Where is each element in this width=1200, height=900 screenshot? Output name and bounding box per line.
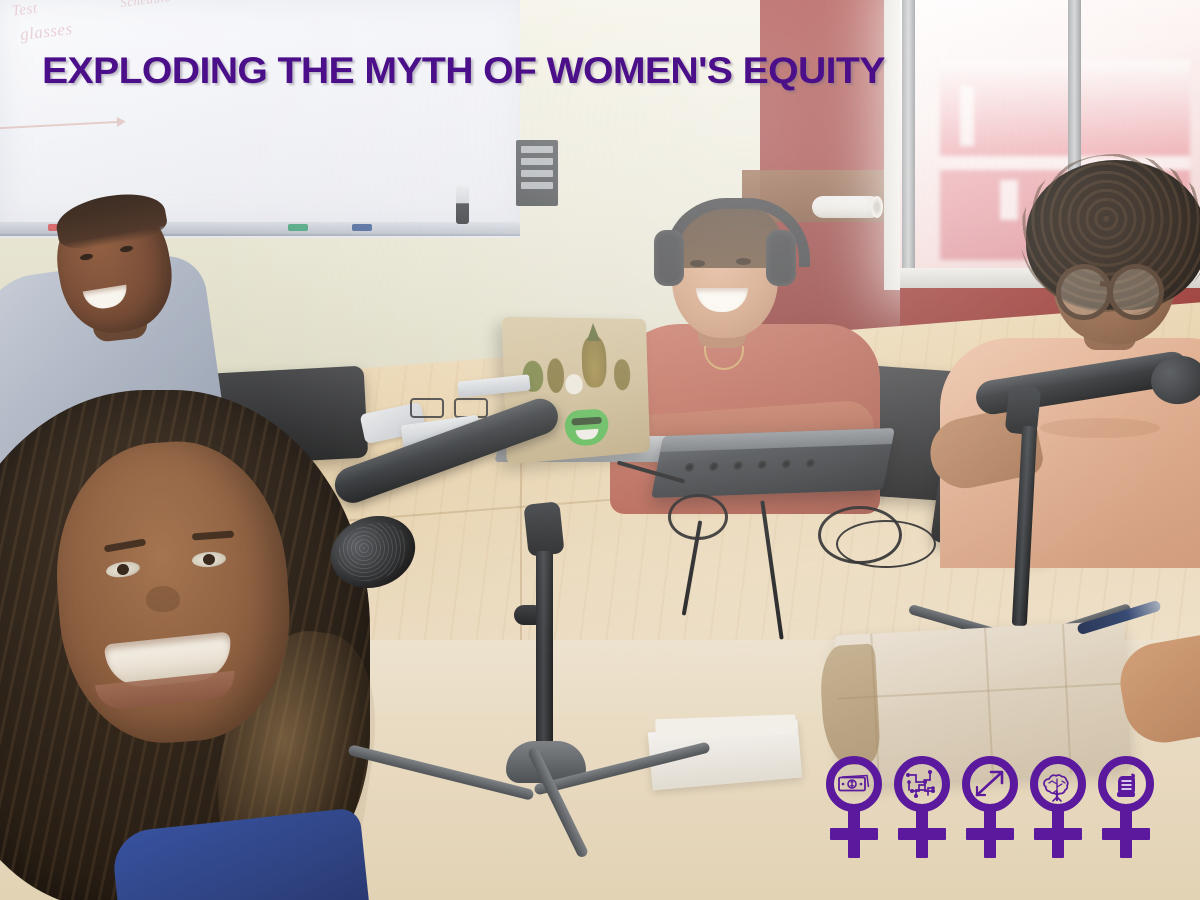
icon-row (820, 756, 1160, 860)
marker-blue (352, 224, 372, 231)
venus-badge-power[interactable] (1092, 756, 1160, 860)
sticker-pear (614, 359, 631, 390)
venus-badge-technology[interactable] (888, 756, 956, 860)
venus-badge-money[interactable] (820, 756, 888, 860)
microphone-foreground (330, 455, 630, 875)
brain-icon (1040, 766, 1076, 802)
venus-bar (898, 828, 946, 840)
microphone-grille (321, 504, 426, 599)
apple-logo-icon (565, 374, 583, 395)
whiteboard-note-1: Test (11, 1, 39, 21)
marker-green (288, 224, 308, 231)
whiteboard-note-2: glasses (19, 19, 74, 45)
window-frame-left (902, 0, 915, 290)
sticker-frog (564, 409, 609, 448)
venus-bar (966, 828, 1014, 840)
arrow-icon (972, 766, 1008, 802)
promo-image: Test glasses Schedule (0, 0, 1200, 900)
circuit-icon (904, 766, 940, 802)
sticker-fruit (547, 358, 565, 393)
microphone-tripod-legs (446, 745, 656, 815)
venus-bar (1034, 828, 1082, 840)
fist-icon (1108, 766, 1144, 802)
whiteboard-note-3: Schedule (119, 0, 171, 11)
venus-badge-growth[interactable] (956, 756, 1024, 860)
page-title: EXPLODING THE MYTH OF WOMEN'S EQUITY (42, 52, 1102, 89)
spray-bottle (456, 186, 469, 224)
cable-loop (836, 520, 936, 568)
money-icon (836, 766, 872, 802)
audio-interface (651, 428, 895, 498)
venus-badge-knowledge[interactable] (1024, 756, 1092, 860)
venus-bar (830, 828, 878, 840)
wall-plate (516, 140, 558, 206)
venus-bar (1102, 828, 1150, 840)
whiteboard-arrow (0, 121, 124, 130)
sticker-pineapple (581, 336, 607, 388)
